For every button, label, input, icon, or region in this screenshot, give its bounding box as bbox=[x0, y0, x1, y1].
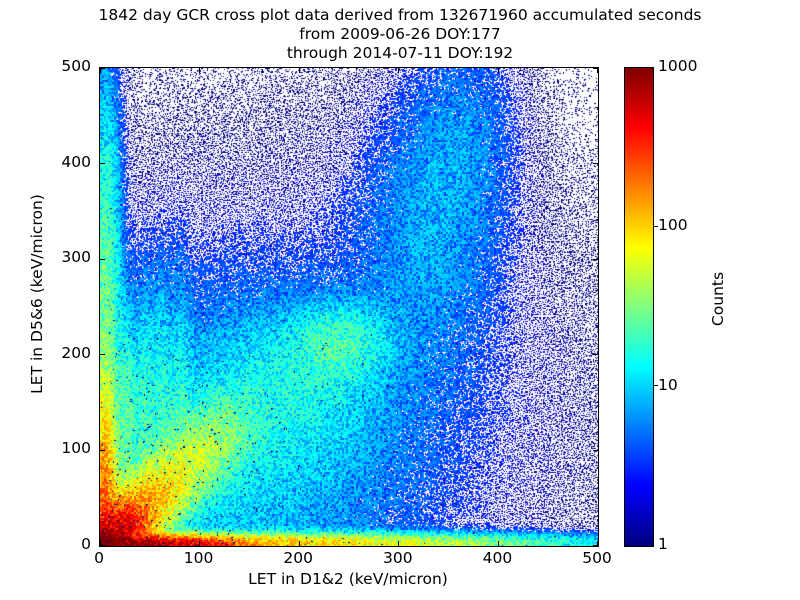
colorbar-tick-label: 1 bbox=[658, 535, 668, 553]
y-axis-label: LET in D5&6 (keV/micron) bbox=[28, 124, 46, 464]
chart-title-line-1: 1842 day GCR cross plot data derived fro… bbox=[0, 6, 800, 25]
x-tick-label: 100 bbox=[164, 549, 234, 567]
x-tick-label: 300 bbox=[363, 549, 433, 567]
x-tick-mark bbox=[99, 68, 100, 73]
y-tick-mark bbox=[593, 545, 598, 546]
y-tick-mark bbox=[593, 163, 598, 164]
x-tick-mark bbox=[299, 68, 300, 73]
colorbar bbox=[624, 67, 652, 545]
y-tick-mark bbox=[593, 450, 598, 451]
y-tick-mark bbox=[593, 259, 598, 260]
y-tick-mark bbox=[593, 354, 598, 355]
chart-title: 1842 day GCR cross plot data derived fro… bbox=[0, 6, 800, 63]
y-tick-mark bbox=[100, 450, 105, 451]
x-tick-mark bbox=[398, 541, 399, 546]
y-tick-mark bbox=[100, 354, 105, 355]
x-tick-mark bbox=[498, 541, 499, 546]
chart-figure: 1842 day GCR cross plot data derived fro… bbox=[0, 0, 800, 600]
x-tick-mark bbox=[199, 541, 200, 546]
colorbar-label: Counts bbox=[709, 209, 727, 389]
scatter-density-canvas bbox=[100, 68, 598, 546]
x-tick-mark bbox=[398, 68, 399, 73]
y-tick-mark bbox=[100, 163, 105, 164]
x-tick-label: 500 bbox=[562, 549, 632, 567]
colorbar-gradient bbox=[624, 67, 654, 547]
x-tick-mark bbox=[498, 68, 499, 73]
y-tick-mark bbox=[100, 259, 105, 260]
colorbar-tick-label: 1000 bbox=[658, 57, 697, 75]
x-tick-label: 400 bbox=[462, 549, 532, 567]
x-axis-label: LET in D1&2 (keV/micron) bbox=[99, 570, 597, 588]
y-tick-label: 500 bbox=[31, 57, 91, 75]
y-tick-label: 0 bbox=[31, 535, 91, 553]
colorbar-tick-label: 100 bbox=[658, 216, 688, 234]
y-tick-mark bbox=[593, 67, 598, 68]
colorbar-tick-label: 10 bbox=[658, 376, 678, 394]
y-tick-mark bbox=[100, 545, 105, 546]
x-tick-mark bbox=[199, 68, 200, 73]
chart-title-line-2: from 2009-06-26 DOY:177 bbox=[0, 25, 800, 44]
plot-area bbox=[99, 67, 599, 547]
x-tick-mark bbox=[299, 541, 300, 546]
x-tick-label: 200 bbox=[263, 549, 333, 567]
y-tick-mark bbox=[100, 67, 105, 68]
x-tick-mark bbox=[597, 68, 598, 73]
